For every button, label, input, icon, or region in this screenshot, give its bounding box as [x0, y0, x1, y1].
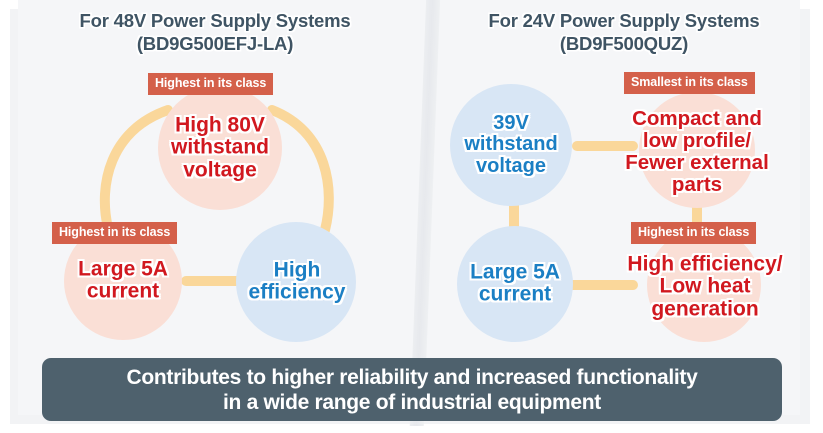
node-compact-and-low-profile-label: Compact and low profile/ Fewer external …: [625, 108, 769, 196]
panel-48v-title-line1: For 48V Power Supply Systems: [80, 10, 351, 31]
badge-highest-in-its-class-right: Highest in its class: [631, 222, 756, 244]
node-line: withstand: [171, 137, 269, 159]
node-line: High efficiency/: [627, 253, 782, 275]
node-line: efficiency: [249, 282, 346, 304]
panel-48v-title: For 48V Power Supply Systems (BD9G500EFJ…: [10, 9, 420, 55]
summary-banner-line1: Contributes to higher reliability and in…: [127, 366, 698, 389]
node-high-80v-withstand-voltage-label: High 80V withstand voltage: [171, 114, 269, 181]
summary-banner: Contributes to higher reliability and in…: [42, 358, 782, 421]
panel-24v-title-line2: (BD9F500QUZ): [425, 32, 823, 55]
node-line: Large 5A: [470, 262, 560, 284]
panel-24v-title: For 24V Power Supply Systems (BD9F500QUZ…: [425, 9, 823, 55]
node-line: Large 5A: [78, 259, 168, 281]
node-line: withstand: [464, 134, 557, 155]
panel-24v-title-line1: For 24V Power Supply Systems: [489, 10, 760, 31]
node-line: High: [249, 260, 346, 282]
summary-banner-text: Contributes to higher reliability and in…: [127, 365, 698, 415]
badge-smallest-in-its-class: Smallest in its class: [624, 72, 755, 94]
node-line: Fewer external: [625, 152, 769, 174]
node-large-5a-current-label: Large 5A current: [78, 259, 168, 304]
node-line: current: [78, 281, 168, 303]
node-line: low profile/: [625, 130, 769, 152]
node-high-efficiency-label: High efficiency: [249, 260, 346, 305]
node-line: Low heat: [627, 276, 782, 298]
badge-highest-in-its-class-top: Highest in its class: [148, 73, 273, 95]
infographic-root: For 48V Power Supply Systems (BD9G500EFJ…: [0, 0, 823, 433]
badge-highest-in-its-class-left: Highest in its class: [52, 222, 177, 244]
node-line: Compact and: [625, 108, 769, 130]
node-line: 39V: [464, 113, 557, 134]
node-line: parts: [625, 174, 769, 196]
node-line: voltage: [171, 159, 269, 181]
summary-banner-line2: in a wide range of industrial equipment: [127, 390, 698, 415]
node-line: current: [470, 284, 560, 306]
node-39v-withstand-voltage-label: 39V withstand voltage: [464, 113, 557, 177]
panel-48v-title-line2: (BD9G500EFJ-LA): [10, 32, 420, 55]
node-high-efficiency-low-heat-label: High efficiency/ Low heat generation: [627, 253, 782, 320]
node-line: High 80V: [171, 114, 269, 136]
node-line: generation: [627, 298, 782, 320]
node-large-5a-current-right-label: Large 5A current: [470, 262, 560, 307]
node-line: voltage: [464, 156, 557, 177]
